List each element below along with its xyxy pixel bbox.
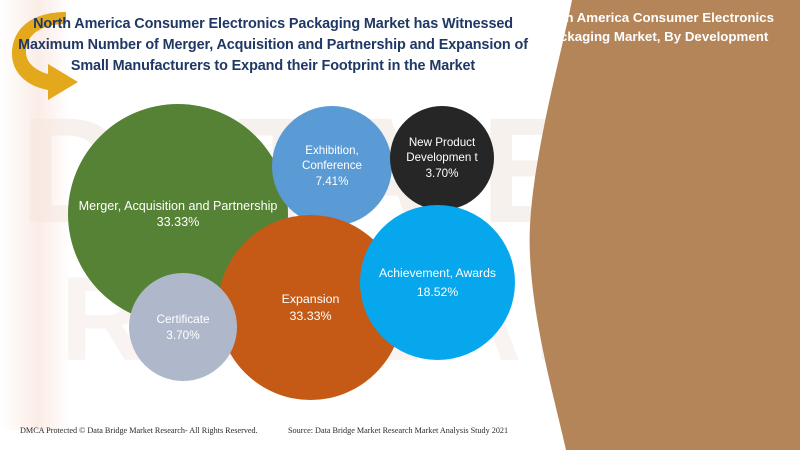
bubble-new-product-development[interactable]: New Product Developmen t 3.70% (390, 106, 494, 210)
bubble-certificate-label: Certificate 3.70% (129, 311, 237, 343)
bubble-certificate-value: 3.70% (166, 328, 199, 342)
bubble-npd-text: New Product Developmen t (406, 136, 478, 165)
bubble-achievement-text: Achievement, Awards (379, 266, 496, 280)
bubble-merger-value: 33.33% (157, 215, 200, 229)
bubble-achievement-value: 18.52% (417, 285, 458, 299)
bubble-merger-label: Merger, Acquisition and Partnership 33.3… (68, 198, 288, 231)
bubble-achievement[interactable]: Achievement, Awards 18.52% (360, 205, 515, 360)
footer-source-note: Source: Data Bridge Market Research Mark… (288, 426, 508, 435)
bubble-exhibition[interactable]: Exhibition, Conference 7.41% (272, 106, 392, 226)
bubble-merger-text: Merger, Acquisition and Partnership (79, 199, 278, 213)
brand-panel-shape (500, 0, 800, 450)
venn-chart: Merger, Acquisition and Partnership 33.3… (0, 0, 540, 430)
panel-title: North America Consumer Electronics Packa… (522, 8, 790, 46)
bubble-expansion-text: Expansion (282, 292, 340, 306)
right-brand-panel: North America Consumer Electronics Packa… (500, 0, 800, 450)
bubble-npd-value: 3.70% (426, 167, 459, 180)
footer-dmca-notice: DMCA Protected © Data Bridge Market Rese… (20, 426, 258, 435)
bubble-expansion-value: 33.33% (289, 309, 331, 323)
bubble-npd-label: New Product Developmen t 3.70% (390, 135, 494, 182)
infographic-canvas: DATA BRIDGE RESEARCH North America Consu… (0, 0, 800, 450)
bubble-exhibition-value: 7.41% (316, 175, 349, 188)
bubble-achievement-label: Achievement, Awards 18.52% (360, 264, 515, 302)
bubble-certificate[interactable]: Certificate 3.70% (129, 273, 237, 381)
bubble-exhibition-text: Exhibition, Conference (302, 144, 362, 173)
bubble-certificate-text: Certificate (156, 312, 209, 326)
bubble-exhibition-label: Exhibition, Conference 7.41% (272, 143, 392, 190)
